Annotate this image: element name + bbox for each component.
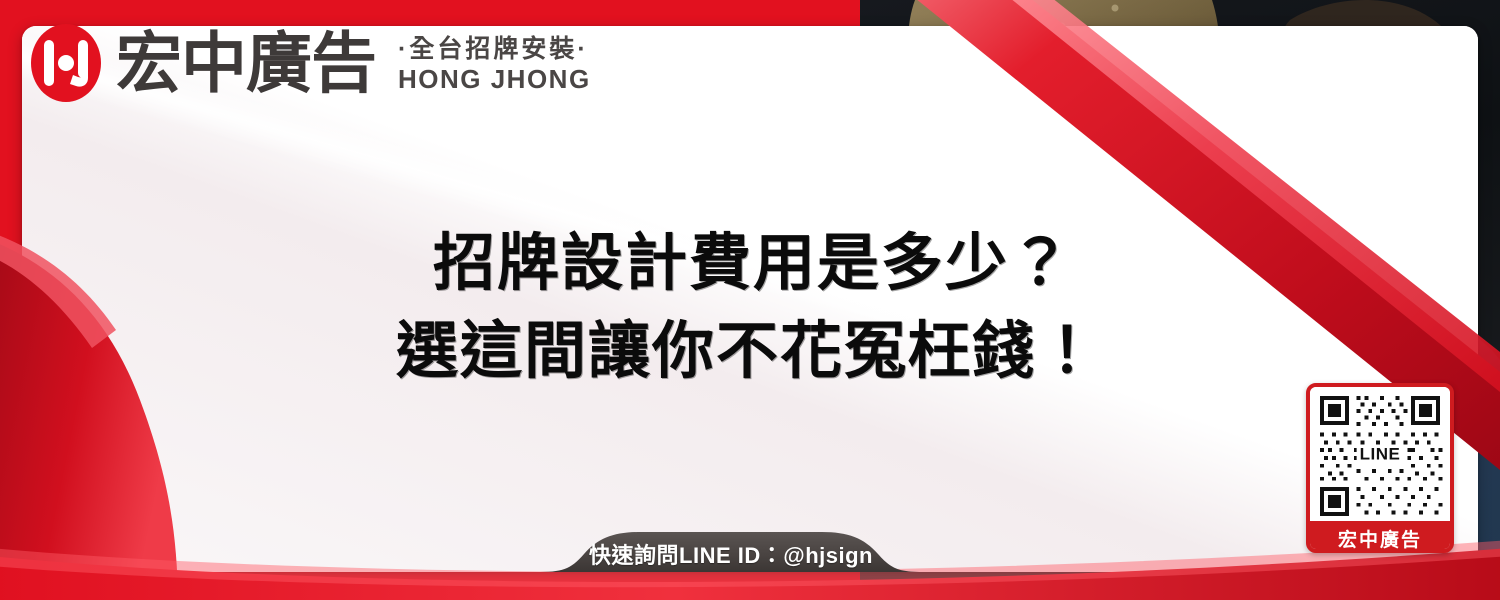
qr-center-label: LINE [1357, 445, 1404, 464]
line-id-text: 快速詢問LINE ID：@hjsign [536, 528, 926, 572]
brand-name: 宏中廣告 [116, 30, 376, 96]
content-card [22, 26, 1478, 572]
brand-logo-lockup[interactable]: 宏中廣告 ·全台招牌安裝· HONG JHONG [30, 22, 591, 104]
qr-code-image: LINE [1310, 387, 1450, 521]
brand-tagline-cn: ·全台招牌安裝· [398, 35, 591, 64]
card-sheen [22, 26, 1478, 572]
line-id-ribbon[interactable]: 快速詢問LINE ID：@hjsign [536, 528, 926, 572]
brand-tagline-en: HONG JHONG [398, 65, 591, 95]
hj-monogram-icon [30, 22, 102, 104]
qr-caption: 宏中廣告 [1310, 521, 1450, 553]
banner-stage: 宏中廣告 ·全台招牌安裝· HONG JHONG 招牌設計費用是多少？ 選這間讓… [0, 0, 1500, 600]
brand-tagline-block: ·全台招牌安裝· HONG JHONG [398, 35, 591, 96]
line-qr-card[interactable]: LINE 宏中廣告 [1306, 383, 1454, 553]
